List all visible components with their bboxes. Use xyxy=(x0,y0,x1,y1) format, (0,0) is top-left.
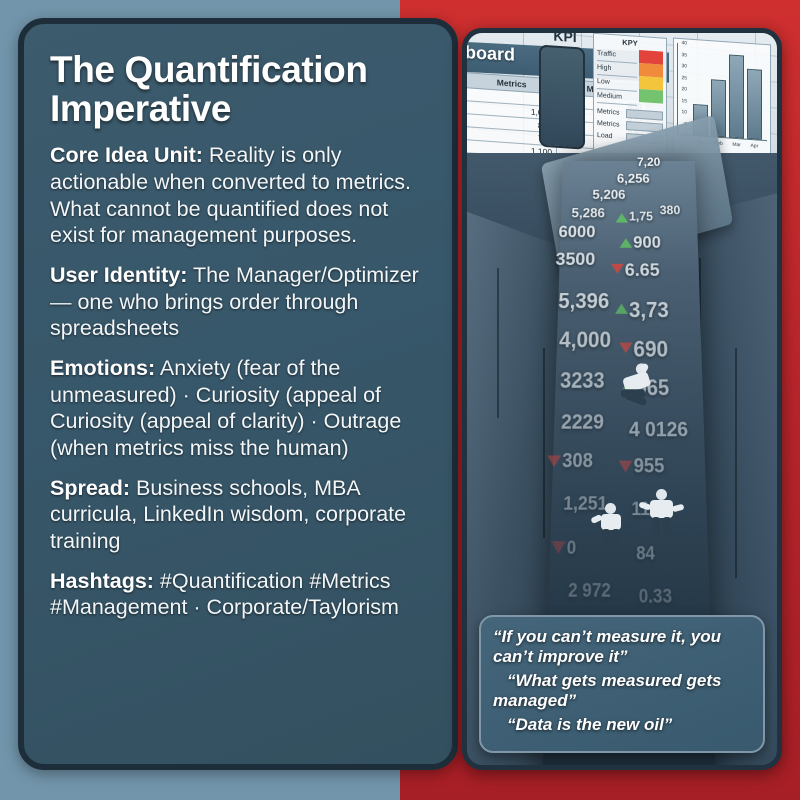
dashboard-title: Dashboard xyxy=(467,40,515,66)
kpi-legend-bars xyxy=(639,50,663,108)
waterfall-number: 2 972 xyxy=(568,578,611,601)
bar-chart-y-tick: 30 xyxy=(681,63,687,69)
arrow-down-icon xyxy=(547,455,561,467)
waterfall-number: 2229 xyxy=(561,410,604,435)
waterfall-number: 955 xyxy=(634,455,665,478)
quote-1: “If you can’t measure it, you can’t impr… xyxy=(493,627,751,667)
page-title: The Quantification Imperative xyxy=(50,50,426,128)
arrow-down-icon xyxy=(619,461,633,473)
kpi-label: KPI xyxy=(541,33,589,46)
waterfall-number: 308 xyxy=(562,450,593,473)
traffic-light-icon xyxy=(539,45,585,150)
waterfall-number: 380 xyxy=(660,203,681,217)
illustration-panel: Dashboard Unit Metrics Metrics 2850301,0… xyxy=(462,28,782,770)
kpi-legend-names: TrafficHighLowMedium xyxy=(597,47,637,106)
bar-chart-y-tick: 40 xyxy=(681,40,687,46)
waterfall-number: 5,206 xyxy=(592,187,625,202)
arrow-down-icon xyxy=(619,343,632,354)
section-emotions-label: Emotions: xyxy=(50,356,155,380)
arrow-up-icon xyxy=(620,238,633,248)
section-core-idea-label: Core Idea Unit: xyxy=(50,143,203,167)
waterfall-number: 0 xyxy=(567,536,577,558)
section-user-identity: User Identity: The Manager/Optimizer — o… xyxy=(50,262,426,342)
section-user-identity-label: User Identity: xyxy=(50,263,187,287)
bar-chart-y-tick: 25 xyxy=(681,75,687,81)
kpi-legend-extra-label: Metrics xyxy=(597,120,623,129)
kpi-legend-swatch xyxy=(639,89,663,104)
bar-chart-x-tick: Mar xyxy=(732,142,741,149)
waterfall-number: 900 xyxy=(633,234,661,253)
waterfall-number: 3500 xyxy=(555,249,595,271)
waterfall-number: 1,75 xyxy=(629,209,653,223)
waterfall-number: 3,73 xyxy=(629,299,669,324)
section-hashtags: Hashtags: #Quantification #Metrics #Mana… xyxy=(50,568,426,621)
waterfall-number: 6.65 xyxy=(625,260,660,282)
waterfall-number: 5,396 xyxy=(558,290,609,315)
arrow-up-icon xyxy=(616,213,628,222)
quote-2: “What gets measured gets managed” xyxy=(493,671,751,711)
bar-chart-y-tick: 20 xyxy=(681,86,687,92)
section-spread: Spread: Business schools, MBA curricula,… xyxy=(50,475,426,555)
bar-chart-x-tick: Apr xyxy=(750,143,758,150)
kpi-legend-row-label: Medium xyxy=(597,89,637,106)
kpi-legend-extra-row: Metrics xyxy=(597,119,663,133)
section-spread-label: Spread: xyxy=(50,476,130,500)
bar-chart-bar xyxy=(729,54,744,138)
waterfall-number: 0.33 xyxy=(639,584,672,607)
waterfall-number: 6,256 xyxy=(617,171,650,186)
arrow-down-icon xyxy=(611,264,624,274)
section-core-idea: Core Idea Unit: Reality is only actionab… xyxy=(50,142,426,249)
bar-chart-y-tick: 10 xyxy=(681,109,687,115)
waterfall-number: 5,286 xyxy=(571,205,605,220)
bar-chart-y-tick: 15 xyxy=(681,98,687,104)
kpi-legend-extra-row: Metrics xyxy=(597,107,663,121)
waterfall-number: 7,20 xyxy=(637,155,661,169)
kpi-widget: KPI xyxy=(533,33,589,150)
bar-chart-y-tick: 35 xyxy=(681,52,687,58)
poster-canvas: The Quantification Imperative Core Idea … xyxy=(0,0,800,800)
kpi-legend-extra-label: Metrics xyxy=(597,108,623,117)
figure-climber-lower xyxy=(595,503,629,549)
figure-standing-right xyxy=(645,489,681,541)
arrow-down-icon xyxy=(551,541,566,554)
arrow-up-icon xyxy=(615,304,628,314)
text-card: The Quantification Imperative Core Idea … xyxy=(18,18,458,770)
waterfall-number: 6000 xyxy=(558,224,595,243)
waterfall-number: 4 0126 xyxy=(629,417,688,442)
bar-chart-bar xyxy=(747,69,762,140)
section-emotions: Emotions: Anxiety (fear of the unmeasure… xyxy=(50,355,426,462)
quote-box: “If you can’t measure it, you can’t impr… xyxy=(479,615,765,753)
waterfall-number: 4,000 xyxy=(559,329,611,355)
quote-3: “Data is the new oil” xyxy=(493,715,751,735)
section-hashtags-label: Hashtags: xyxy=(50,569,154,593)
waterfall-number: 84 xyxy=(636,541,655,563)
kpi-legend-extra-bar xyxy=(626,109,663,121)
kpi-legend-extra-label: Load xyxy=(597,132,623,141)
waterfall-number: 3233 xyxy=(560,369,605,394)
